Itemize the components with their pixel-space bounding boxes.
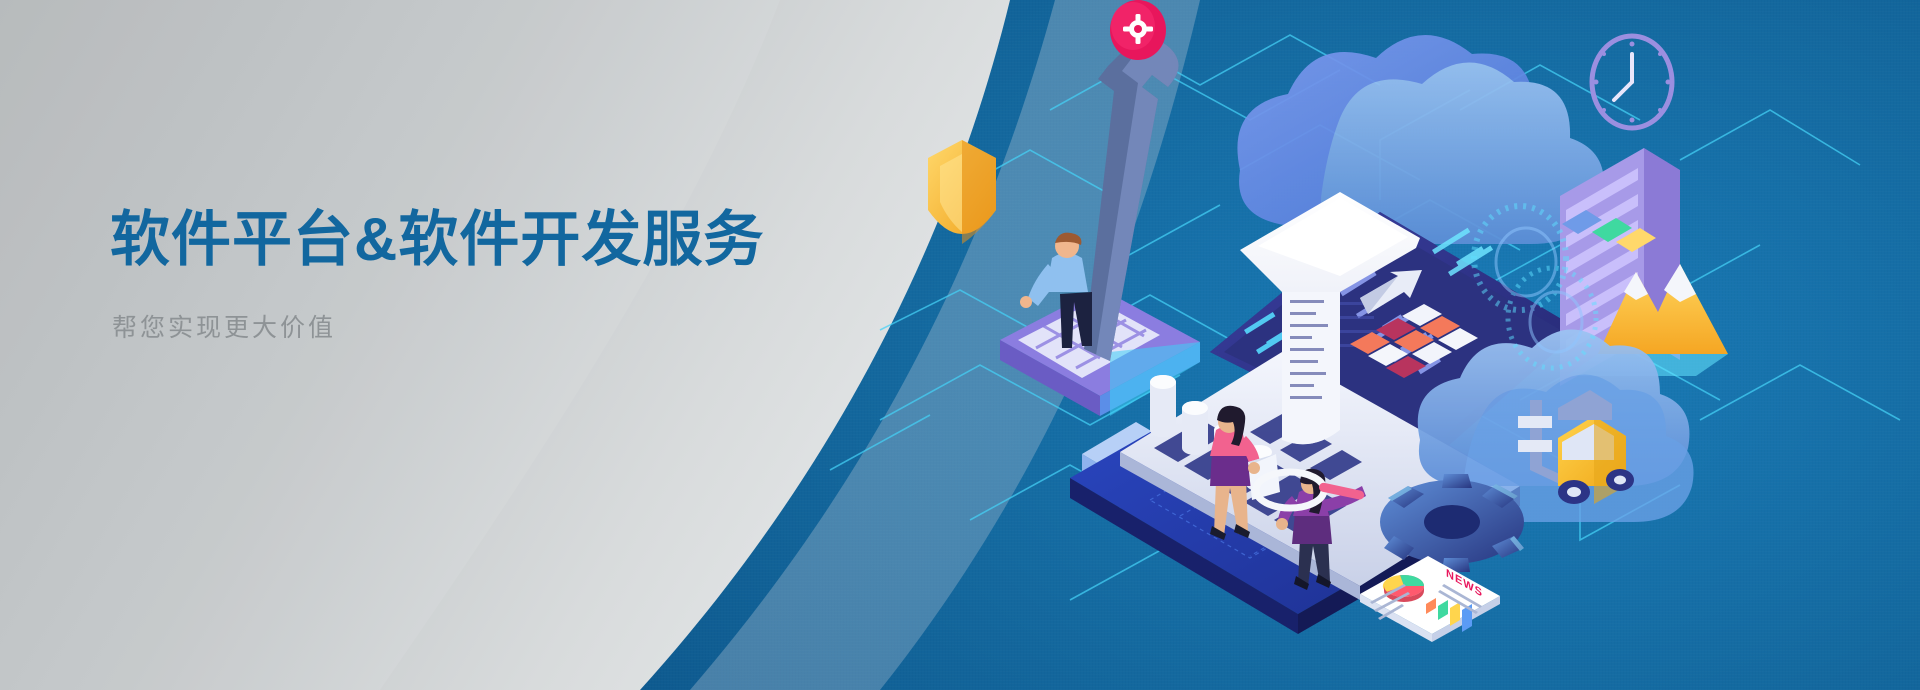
cloud-icon xyxy=(1237,35,1604,244)
shield-icon xyxy=(928,140,996,244)
hero-banner: NEWS xyxy=(0,0,1920,690)
page-title: 软件平台&软件开发服务 xyxy=(110,205,870,274)
hero-copy: 软件平台&软件开发服务 帮您实现更大价值 xyxy=(110,205,870,345)
clock-icon xyxy=(1592,36,1672,128)
page-subtitle: 帮您实现更大价值 xyxy=(112,312,870,345)
illustration-artwork: NEWS xyxy=(820,0,1920,690)
gear-badge-icon xyxy=(1110,0,1166,60)
